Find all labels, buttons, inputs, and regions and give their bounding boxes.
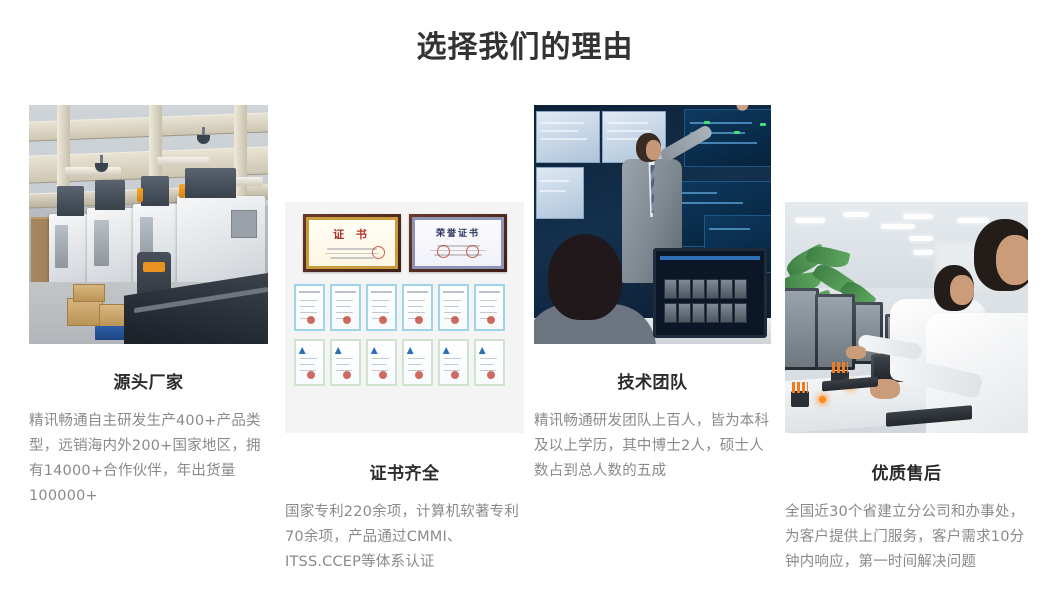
factory-floor-photo	[29, 105, 268, 344]
ceiling-light	[795, 218, 825, 223]
factory-duct	[157, 157, 209, 166]
certificate-thumb	[474, 284, 505, 331]
pen-holder	[791, 391, 809, 407]
column-description-source-manufacturer: 精讯畅通自主研发生产400+产品类型，远销海内外200+国家地区，拥有14000…	[29, 409, 268, 509]
office-worker-foreground	[908, 219, 1028, 433]
desk-light-glow	[819, 396, 826, 403]
column-title-certificates: 证书齐全	[285, 459, 524, 484]
status-indicator	[704, 121, 710, 124]
certificate-seal	[437, 245, 450, 258]
certificates-wall-photo: 证 书 荣誉证书	[285, 202, 524, 433]
machine-indicator	[179, 184, 185, 198]
cardboard-box	[73, 284, 105, 302]
certificate-thumb	[294, 284, 325, 331]
factory-lamp	[197, 135, 210, 144]
desktop-monitor	[653, 248, 767, 338]
cardboard-box	[67, 298, 103, 326]
certificate-thumb	[474, 339, 505, 386]
column-title-tech-team: 技术团队	[534, 368, 771, 393]
certificate-thumb	[366, 339, 397, 386]
column-description-after-sales: 全国近30个省建立分公司和办事处，为客户提供上门服务，客户需求10分钟内响应，第…	[785, 500, 1028, 575]
machine-indicator	[137, 188, 143, 202]
framed-certificate: 证 书	[303, 214, 401, 272]
office-monitor	[815, 294, 855, 370]
certificate-seal	[372, 246, 385, 259]
seated-person-head	[548, 234, 622, 320]
certificate-thumb	[330, 339, 361, 386]
display-wall-panel	[536, 167, 584, 219]
framed-certificate: 荣誉证书	[409, 214, 507, 272]
column-title-source-manufacturer: 源头厂家	[29, 368, 268, 393]
feature-column-after-sales: 优质售后 全国近30个省建立分公司和办事处，为客户提供上门服务，客户需求10分钟…	[785, 202, 1028, 575]
certificate-seal	[466, 245, 479, 258]
certificate-title: 荣誉证书	[436, 226, 480, 239]
certificate-thumb	[330, 284, 361, 331]
certificate-title: 证 书	[333, 226, 371, 242]
control-room-photo	[534, 105, 771, 344]
certificate-thumb	[294, 339, 325, 386]
page-title: 选择我们的理由	[0, 22, 1050, 66]
status-indicator	[760, 123, 766, 126]
certificate-thumb	[402, 339, 433, 386]
certificate-thumb	[366, 284, 397, 331]
factory-duct	[65, 167, 121, 176]
status-indicator	[734, 131, 740, 134]
certificate-thumb	[402, 284, 433, 331]
column-title-after-sales: 优质售后	[785, 459, 1028, 484]
column-description-certificates: 国家专利220余项，计算机软著专利70余项，产品通过CMMI、ITSS.CCEP…	[285, 500, 524, 575]
ceiling-light	[843, 212, 869, 217]
certificate-thumb	[438, 284, 469, 331]
feature-column-source-manufacturer: 源头厂家 精讯畅通自主研发生产400+产品类型，远销海内外200+国家地区，拥有…	[29, 105, 268, 509]
cardboard-box	[99, 304, 127, 328]
office-support-photo	[785, 202, 1028, 433]
office-monitor	[785, 288, 819, 370]
column-description-tech-team: 精讯畅通研发团队上百人，皆为本科及以上学历，其中博士2人，硕士人数占到总人数的五…	[534, 409, 771, 484]
certificate-thumb	[438, 339, 469, 386]
feature-column-certificates: 证 书 荣誉证书	[285, 202, 524, 575]
display-wall-panel	[536, 111, 600, 163]
feature-column-tech-team: 技术团队 精讯畅通研发团队上百人，皆为本科及以上学历，其中博士2人，硕士人数占到…	[534, 105, 771, 484]
